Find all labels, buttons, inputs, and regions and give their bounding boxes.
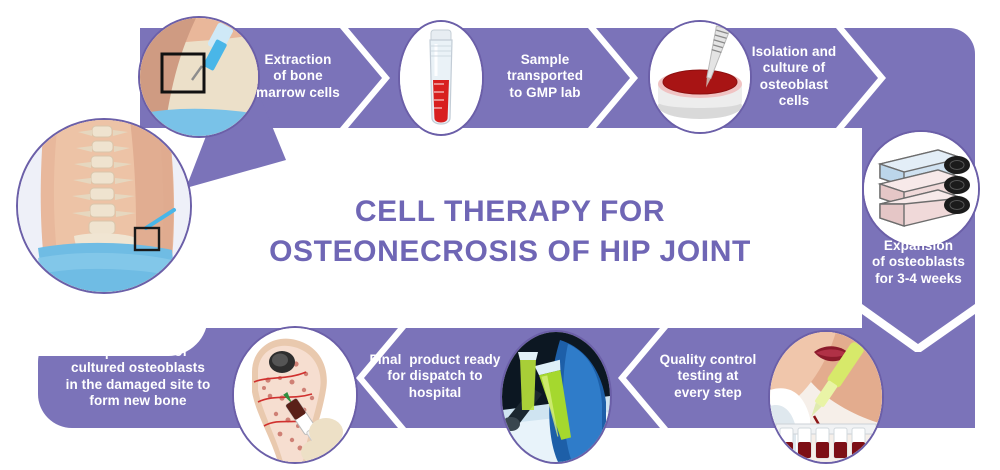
chevron-separator-2 bbox=[588, 28, 644, 128]
infographic-canvas: Extraction of bone marrow cells Sample t… bbox=[0, 0, 1000, 470]
step-label-3: Isolation and culture of osteoblast cell… bbox=[744, 44, 844, 110]
step-4-line-3: for 3-4 weeks bbox=[862, 271, 975, 287]
node-femur-injection bbox=[232, 326, 358, 464]
node-patient-back-spine bbox=[16, 118, 192, 294]
step-4-line-1: Expansion bbox=[862, 238, 975, 254]
node-pipette-tubes bbox=[768, 330, 884, 464]
step-7-line-3: in the damaged site to bbox=[56, 377, 220, 393]
pipette-tubes-icon bbox=[770, 332, 882, 462]
step-7-line-4: form new bone bbox=[56, 393, 220, 409]
step-label-5: Quality control testing at every step bbox=[652, 352, 764, 401]
step-label-6: Final product ready for dispatch to hosp… bbox=[368, 352, 502, 401]
step-3-line-1: Isolation and bbox=[744, 44, 844, 60]
step-7-line-1: Implantation of bbox=[56, 344, 220, 360]
blood-sample-tube-icon bbox=[400, 22, 482, 134]
step-5-line-1: Quality control bbox=[652, 352, 764, 368]
step-7-line-2: cultured osteoblasts bbox=[56, 360, 220, 376]
chevron-separator-3 bbox=[836, 28, 892, 128]
step-1-line-1: Extraction bbox=[252, 52, 344, 68]
step-6-line-3: hospital bbox=[368, 385, 502, 401]
node-syringe-lab bbox=[500, 330, 612, 464]
step-3-line-3: osteoblast bbox=[744, 77, 844, 93]
femur-injection-icon bbox=[234, 328, 356, 462]
step-label-1: Extraction of bone marrow cells bbox=[252, 52, 344, 101]
node-petri-dish bbox=[648, 20, 752, 134]
petri-dish-icon bbox=[650, 22, 750, 132]
step-4-line-2: of osteoblasts bbox=[862, 254, 975, 270]
page-title: CELL THERAPY FOR OSTEONECROSIS OF HIP JO… bbox=[250, 192, 770, 272]
syringe-lab-icon bbox=[502, 332, 610, 462]
step-5-line-2: testing at bbox=[652, 368, 764, 384]
step-2-line-3: to GMP lab bbox=[498, 85, 592, 101]
step-label-7: Implantation of cultured osteoblasts in … bbox=[56, 344, 220, 410]
step-2-line-2: transported bbox=[498, 68, 592, 84]
node-needle-insertion-closeup bbox=[138, 16, 260, 138]
step-6-line-1: Final product ready bbox=[368, 352, 502, 368]
chevron-separator-1 bbox=[340, 28, 396, 128]
culture-flask-stack-icon bbox=[864, 132, 978, 246]
step-label-2: Sample transported to GMP lab bbox=[498, 52, 592, 101]
node-blood-sample-tube bbox=[398, 20, 484, 136]
page-title-line-1: CELL THERAPY FOR bbox=[355, 195, 665, 228]
page-title-line-2: OSTEONECROSIS OF HIP JOINT bbox=[250, 232, 770, 272]
step-6-line-2: for dispatch to bbox=[368, 368, 502, 384]
needle-insertion-closeup-icon bbox=[140, 18, 258, 136]
node-culture-flask-stack bbox=[862, 130, 980, 248]
step-2-line-1: Sample bbox=[498, 52, 592, 68]
step-1-line-3: marrow cells bbox=[252, 85, 344, 101]
step-label-4: Expansion of osteoblasts for 3-4 weeks bbox=[862, 238, 975, 287]
step-3-line-2: culture of bbox=[744, 60, 844, 76]
step-1-line-2: of bone bbox=[252, 68, 344, 84]
patient-back-spine-icon bbox=[18, 120, 190, 292]
step-5-line-3: every step bbox=[652, 385, 764, 401]
step-3-line-4: cells bbox=[744, 93, 844, 109]
